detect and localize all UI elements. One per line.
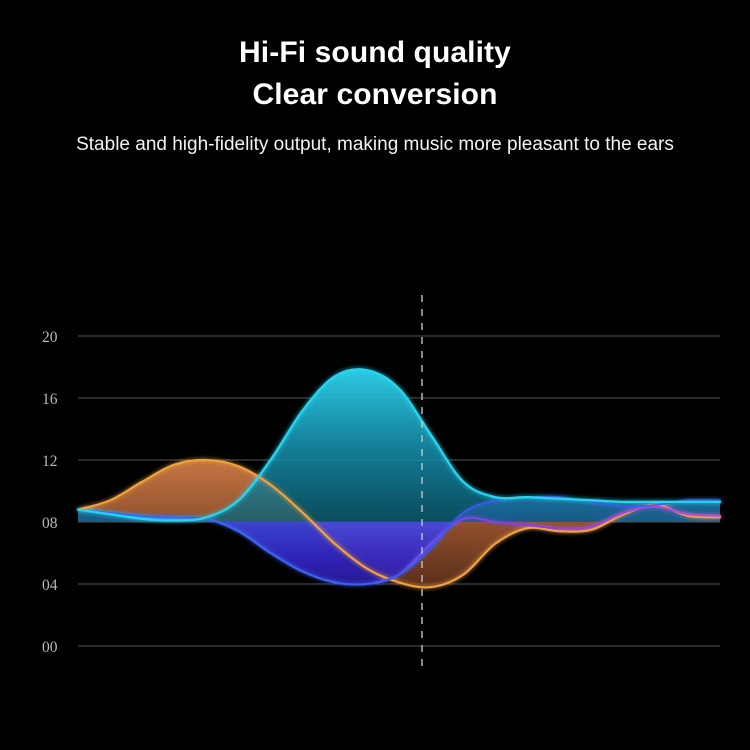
y-tick-label-16: 16 (42, 391, 58, 408)
y-tick-label-12: 12 (42, 453, 58, 470)
page-title-line-1: Hi-Fi sound quality (0, 34, 750, 72)
y-tick-label-00: 00 (42, 639, 58, 656)
y-tick-label-04: 04 (42, 577, 58, 594)
y-tick-label-08: 08 (42, 515, 58, 532)
banner-header: Hi-Fi sound quality Clear conversion Sta… (0, 0, 750, 158)
page-subtitle: Stable and high-fidelity output, making … (0, 132, 750, 158)
chart-series-areas (78, 369, 720, 587)
y-tick-label-20: 20 (42, 329, 58, 346)
product-feature-banner: 20 16 12 08 04 00 (0, 0, 750, 750)
y-axis-labels: 20 16 12 08 04 00 (42, 329, 58, 656)
page-title-line-2: Clear conversion (0, 76, 750, 114)
